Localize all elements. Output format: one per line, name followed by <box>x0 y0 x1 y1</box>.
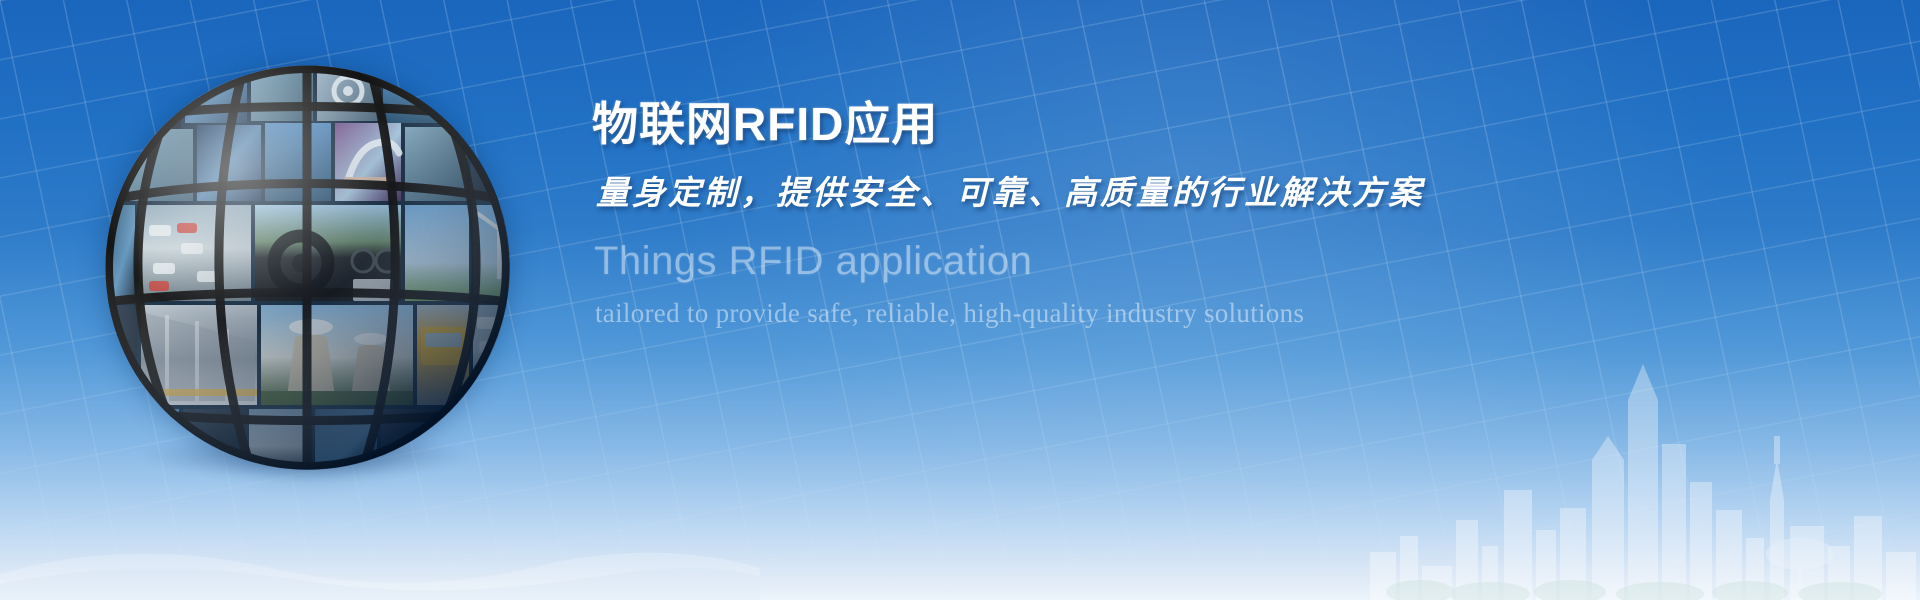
city-skyline-icon <box>1360 340 1920 600</box>
rfid-hero-banner: 物联网RFID应用 量身定制，提供安全、可靠、高质量的行业解决方案 Things… <box>0 0 1920 600</box>
photo-mosaic-globe-icon <box>100 60 520 490</box>
banner-tagline-cn: 量身定制，提供安全、可靠、高质量的行业解决方案 <box>596 172 1792 213</box>
banner-text-block: 物联网RFID应用 量身定制，提供安全、可靠、高质量的行业解决方案 Things… <box>592 100 1792 329</box>
globe-sphere <box>105 65 510 470</box>
banner-title-cn: 物联网RFID应用 <box>592 100 1792 150</box>
globe-tiles <box>105 65 510 470</box>
banner-title-en: Things RFID application <box>594 239 1792 283</box>
banner-tagline-en: tailored to provide safe, reliable, high… <box>595 297 1792 329</box>
wave-icon <box>0 510 760 600</box>
